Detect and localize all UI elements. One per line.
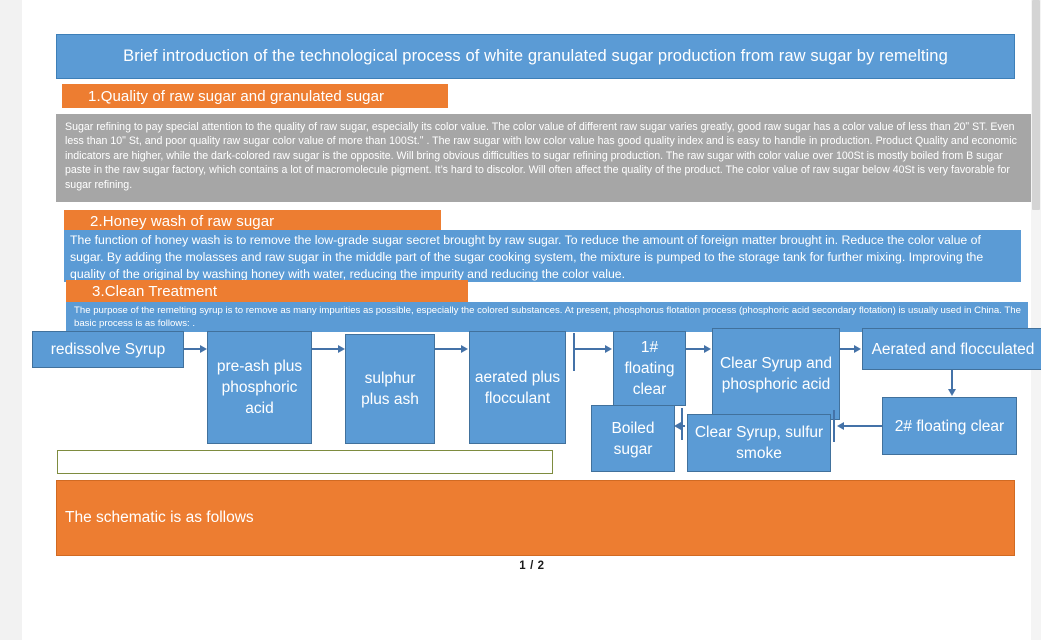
connector-aeratedfloc-to-float2	[951, 370, 953, 389]
flow-node-boiled-sugar[interactable]: Boiled sugar	[591, 405, 675, 472]
arrowhead-icon	[837, 422, 844, 430]
connector-aerated-to-float1	[573, 348, 605, 350]
flow-node-label: Clear Syrup and phosphoric acid	[717, 353, 835, 395]
connector-float2-to-clearsulfur	[844, 425, 882, 427]
flow-node-sulphur-plus-ash[interactable]: sulphur plus ash	[345, 334, 435, 444]
empty-note-box[interactable]	[57, 450, 553, 474]
viewer-left-gutter	[0, 0, 23, 640]
arrowhead-icon	[200, 345, 207, 353]
flow-node-label: Clear Syrup, sulfur smoke	[692, 422, 826, 464]
arrowhead-icon	[338, 345, 345, 353]
footer-banner-text: The schematic is as follows	[65, 509, 254, 527]
flow-node-aerated-plus-flocculant[interactable]: aerated plus flocculant	[469, 331, 566, 444]
section-heading-3: 3.Clean Treatment	[66, 280, 468, 302]
arrowhead-icon	[854, 345, 861, 353]
connector-clearsulfur-right-elbow	[833, 410, 835, 442]
connector-clearsyrup-to-aeratedfloc	[840, 348, 854, 350]
section-heading-3-text: 3.Clean Treatment	[92, 283, 217, 300]
section-heading-1-text: 1.Quality of raw sugar and granulated su…	[88, 88, 384, 105]
arrowhead-icon	[674, 422, 681, 430]
flow-node-label: redissolve Syrup	[51, 339, 166, 360]
section-heading-2-text: 2.Honey wash of raw sugar	[90, 213, 274, 230]
flow-node-label: Aerated and flocculated	[872, 339, 1035, 360]
flow-node-label: 1# floating clear	[618, 337, 681, 400]
connector-float1-to-clearsyrup	[686, 348, 704, 350]
flow-node-label: 2# floating clear	[895, 416, 1004, 437]
section-body-2: The function of honey wash is to remove …	[64, 230, 1021, 282]
flow-node-label: Boiled sugar	[596, 418, 670, 460]
connector-clearsulfur-to-boiled-vertical	[681, 408, 683, 440]
page-title-text: Brief introduction of the technological …	[123, 47, 948, 66]
connector-aerated-to-float1-vertical	[573, 333, 575, 371]
flow-node-clear-syrup-sulfur-smoke[interactable]: Clear Syrup, sulfur smoke	[687, 414, 831, 472]
flow-node-2-floating-clear[interactable]: 2# floating clear	[882, 397, 1017, 455]
slide-canvas: Brief introduction of the technological …	[22, 0, 1031, 640]
flow-node-label: sulphur plus ash	[350, 368, 430, 410]
scrollbar-thumb[interactable]	[1032, 0, 1040, 210]
document-viewer: Brief introduction of the technological …	[0, 0, 1041, 640]
arrowhead-icon	[704, 345, 711, 353]
connector-preash-to-sulphur	[312, 348, 338, 350]
page-indicator: 1 / 2	[492, 560, 572, 576]
vertical-scrollbar[interactable]	[1030, 0, 1041, 640]
arrowhead-icon	[948, 389, 956, 396]
connector-sulphur-to-aerated	[435, 348, 461, 350]
flow-node-redissolve-syrup[interactable]: redissolve Syrup	[32, 331, 184, 368]
flow-node-pre-ash-phosphoric-acid[interactable]: pre-ash plus phosphoric acid	[207, 331, 312, 444]
arrowhead-icon	[605, 345, 612, 353]
page-title: Brief introduction of the technological …	[56, 34, 1015, 79]
section-heading-1: 1.Quality of raw sugar and granulated su…	[62, 84, 448, 108]
flow-node-label: pre-ash plus phosphoric acid	[212, 356, 307, 419]
arrowhead-icon	[461, 345, 468, 353]
flow-node-label: aerated plus flocculant	[474, 367, 561, 409]
section-heading-2: 2.Honey wash of raw sugar	[64, 210, 441, 232]
connector-redissolve-to-preash	[184, 348, 200, 350]
flow-node-clear-syrup-phosphoric-acid[interactable]: Clear Syrup and phosphoric acid	[712, 328, 840, 420]
footer-banner: The schematic is as follows	[56, 480, 1015, 556]
flow-node-aerated-and-flocculated[interactable]: Aerated and flocculated	[862, 328, 1041, 370]
connector-clearsulfur-to-boiled	[681, 425, 685, 427]
section-body-1: Sugar refining to pay special attention …	[56, 114, 1031, 202]
flow-node-1-floating-clear[interactable]: 1# floating clear	[613, 331, 686, 406]
